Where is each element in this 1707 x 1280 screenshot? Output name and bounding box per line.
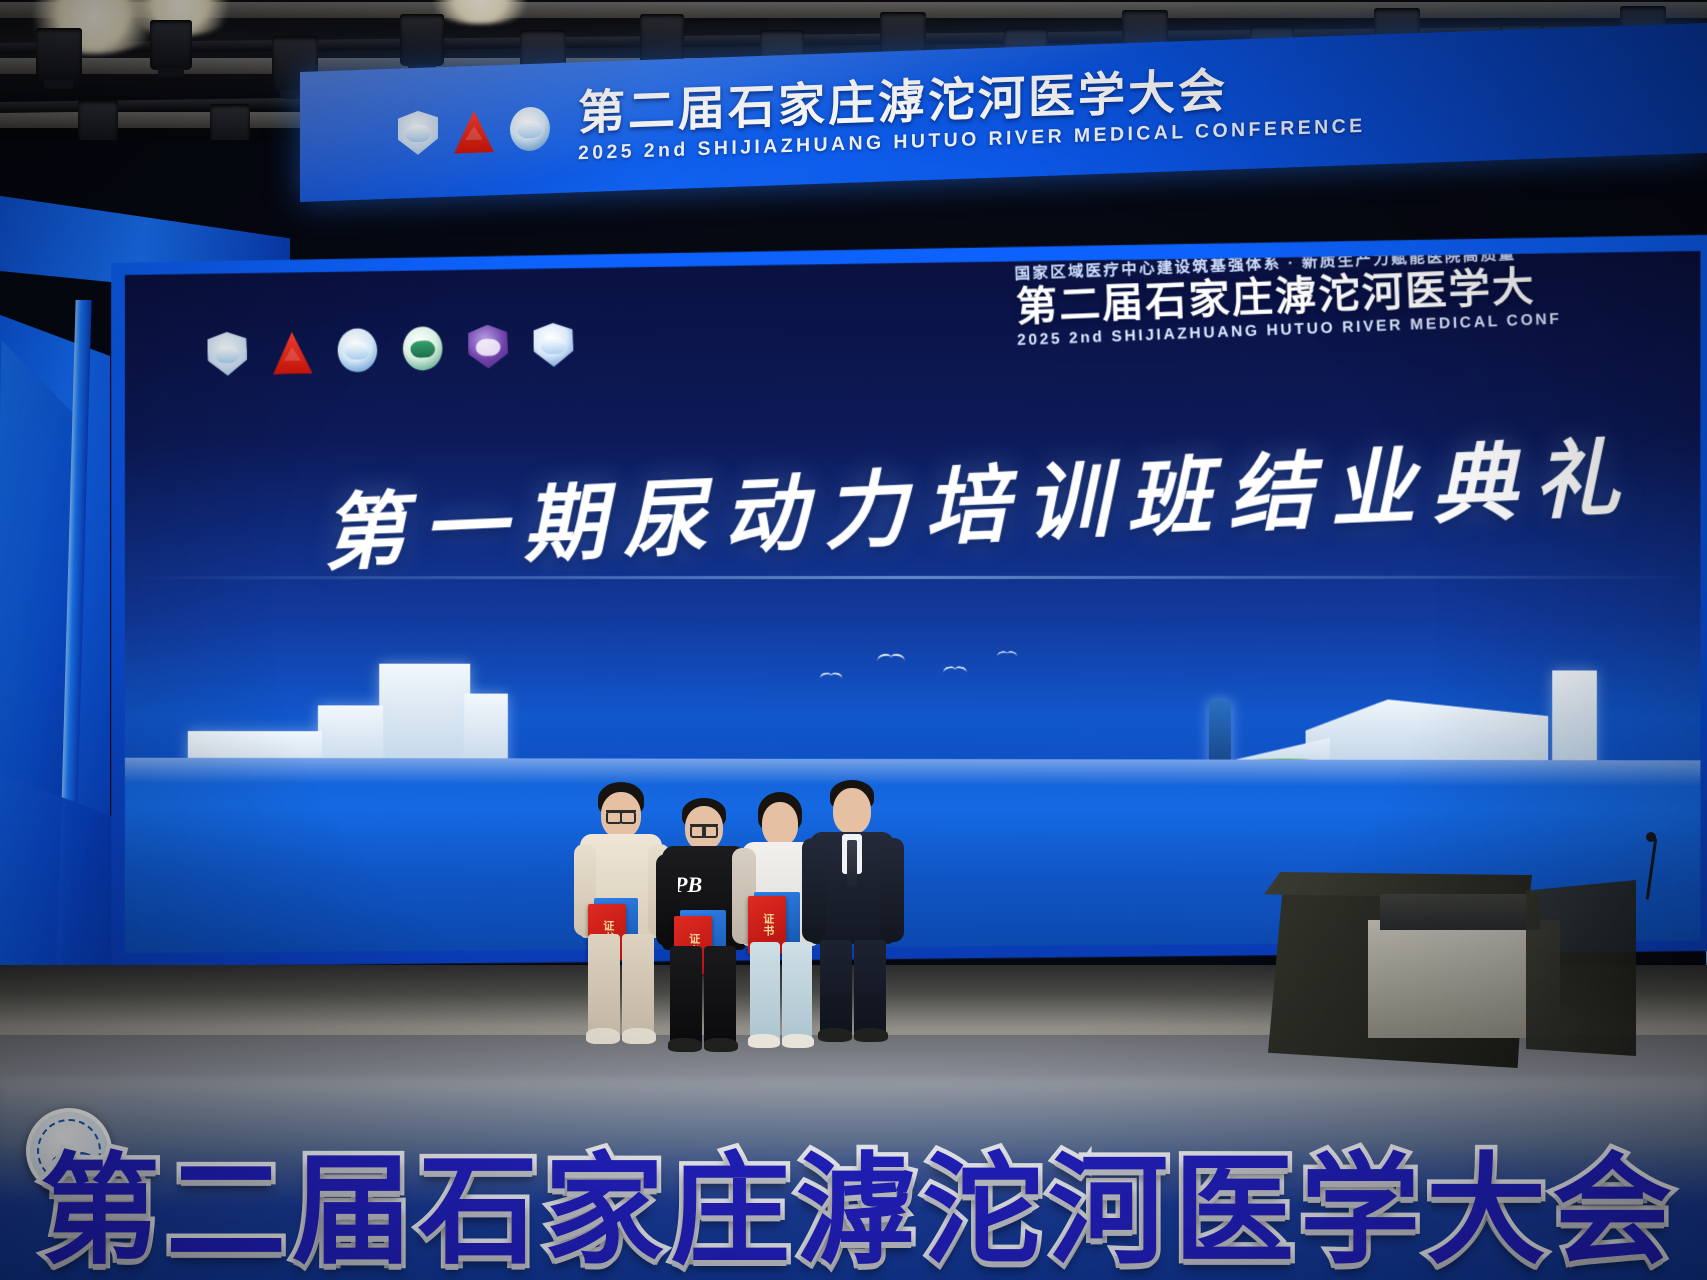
blue-circle-medical-logo-icon xyxy=(510,106,550,151)
shoe xyxy=(854,1028,888,1042)
led-logos-row xyxy=(207,322,574,376)
head xyxy=(833,788,871,834)
hospital-shield-logo-icon xyxy=(398,110,438,155)
bottom-title-chars: 第二届石家庄滹沱河医学大会 xyxy=(40,1152,1674,1272)
leg xyxy=(622,934,654,1034)
arm xyxy=(802,838,826,942)
leg xyxy=(588,934,620,1034)
bird-icon xyxy=(820,673,842,681)
bird-icon xyxy=(877,654,904,663)
leg xyxy=(854,940,886,1034)
led-secondary-banner: 国家区域医疗中心建设筑基强体系 · 新质生产力赋能医院高质量 第二届石家庄滹沱河… xyxy=(1002,251,1700,371)
lectern-side-panel xyxy=(1526,880,1636,1056)
hospital-shield-logo-icon xyxy=(207,331,247,376)
stage-light xyxy=(36,28,82,82)
leg xyxy=(820,940,852,1034)
purple-shield-cus-logo-icon xyxy=(468,324,509,369)
led-main-title: 第一期尿动力培训班结业典礼 xyxy=(320,410,1646,588)
leg xyxy=(670,946,702,1046)
bird-icon xyxy=(943,666,966,674)
podium-cloth xyxy=(1380,894,1540,930)
shoe xyxy=(748,1034,780,1048)
stage-light xyxy=(400,14,444,66)
necktie xyxy=(847,840,857,886)
blue-shield-association-logo-icon xyxy=(533,322,574,367)
led-screen: 国家区域医疗中心建设筑基强体系 · 新质生产力赋能医院高质量 第二届石家庄滹沱河… xyxy=(125,251,1701,959)
glasses-icon xyxy=(690,824,718,826)
microphone-icon xyxy=(1646,832,1656,842)
red-triangle-logo-icon xyxy=(454,108,494,153)
blue-circle-medical-logo-icon xyxy=(337,328,378,373)
leg xyxy=(750,942,780,1042)
stage-light xyxy=(150,20,192,70)
shoe xyxy=(622,1028,656,1044)
shoe xyxy=(586,1028,620,1044)
bottom-title-char: 第二届石家庄滹沱河医学大会 xyxy=(40,1152,1678,1272)
glasses-icon xyxy=(606,810,636,812)
shoe xyxy=(818,1028,852,1042)
led-horizon-line xyxy=(125,576,1701,579)
bottom-overlay-title: 第二届石家庄滹沱河医学大会 xyxy=(40,1122,1680,1272)
top-banner-logos xyxy=(398,106,550,155)
bird-icon xyxy=(997,651,1017,658)
shirt-text: PB xyxy=(674,872,702,898)
shoe xyxy=(668,1038,702,1052)
head xyxy=(762,802,798,846)
conference-stage-photo: 第二届石家庄滹沱河医学大会 2025 2nd SHIJIAZHUANG HUTU… xyxy=(0,0,1707,1280)
presenter-official xyxy=(800,780,904,1042)
led-screen-frame: 国家区域医疗中心建设筑基强体系 · 新质生产力赋能医院高质量 第二届石家庄滹沱河… xyxy=(111,235,1707,973)
certificate-label: 证书 xyxy=(761,913,773,937)
arm xyxy=(880,838,904,942)
red-triangle-logo-icon xyxy=(272,330,313,375)
green-circle-institute-logo-icon xyxy=(402,326,443,371)
